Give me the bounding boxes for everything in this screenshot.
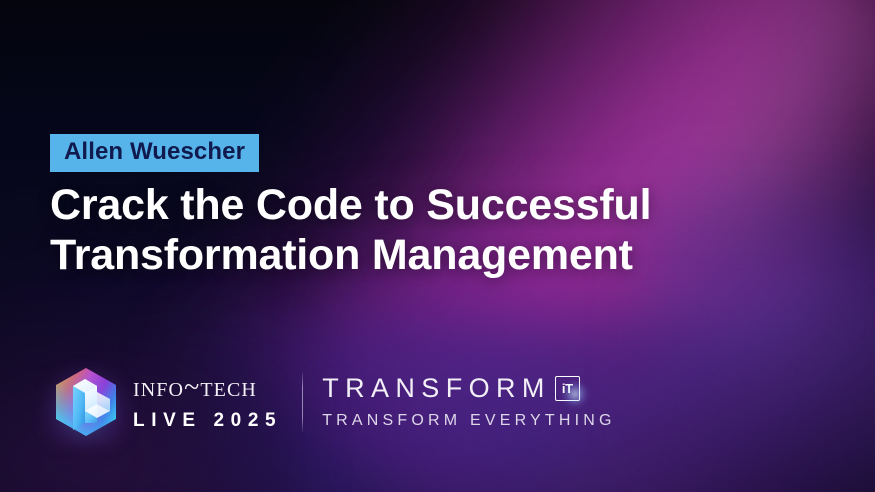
transform-wordmark-row: TRANSFORM iT	[322, 375, 616, 402]
info-tech-logomark	[52, 366, 120, 438]
it-badge-icon: iT	[555, 376, 580, 401]
info-tech-wordmark-block: Info~Tech LIVE 2025	[133, 374, 302, 430]
lockup-divider	[302, 372, 303, 432]
transform-tagline: TRANSFORM EVERYTHING	[322, 413, 616, 429]
info-tech-name: Info~Tech	[133, 374, 282, 402]
transform-brand-block: TRANSFORM iT TRANSFORM EVERYTHING	[322, 375, 616, 429]
session-title-line-2: Transformation Management	[50, 230, 750, 280]
event-name-live-2025: LIVE 2025	[133, 411, 282, 430]
footer-logo-lockup: Info~Tech LIVE 2025 TRANSFORM iT TRANSFO…	[52, 366, 616, 438]
session-title: Crack the Code to Successful Transformat…	[50, 180, 750, 281]
slide-content: Allen Wuescher Crack the Code to Success…	[0, 0, 875, 492]
session-title-slide: Allen Wuescher Crack the Code to Success…	[0, 0, 875, 492]
session-title-line-1: Crack the Code to Successful	[50, 180, 750, 230]
hex-l-icon	[52, 366, 120, 438]
speaker-name-badge: Allen Wuescher	[50, 134, 259, 172]
it-badge-label: iT	[562, 382, 573, 395]
transform-wordmark: TRANSFORM	[322, 375, 551, 402]
